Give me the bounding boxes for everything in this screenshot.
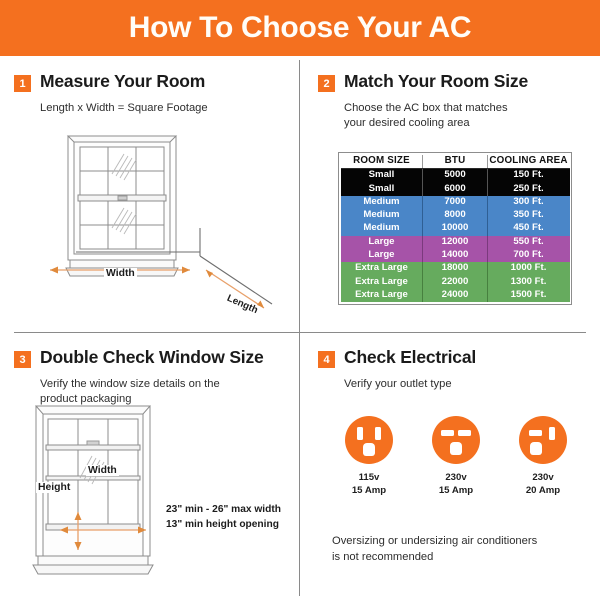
cell-room-size: Small <box>341 182 423 195</box>
outlet-option-2[interactable]: 230v15 Amp <box>419 416 493 497</box>
cell-room-size: Medium <box>341 196 423 209</box>
sizing-recommendation-note: Oversizing or undersizing air conditione… <box>332 534 582 566</box>
cell-room-size: Medium <box>341 222 423 235</box>
cell-btu: 8000 <box>423 209 487 222</box>
table-body: Small5000150 Ft.Small6000250 Ft.Medium70… <box>341 169 570 303</box>
step-3-number: 3 <box>14 351 31 368</box>
cell-cooling-area: 300 Ft. <box>487 196 569 209</box>
prong-slot-2 <box>458 430 471 436</box>
column-header-room-size: ROOM SIZE <box>341 155 423 169</box>
outlet-option-1[interactable]: 115v15 Amp <box>332 416 406 497</box>
step-4-subtitle: Verify your outlet type <box>344 377 588 392</box>
step-4-number: 4 <box>318 351 335 368</box>
window-dimension-requirements: 23" min - 26" max width13" min height op… <box>166 502 281 532</box>
cell-cooling-area: 1300 Ft. <box>487 276 569 289</box>
step-3-panel: 3 Double Check Window Size Verify the wi… <box>14 348 294 593</box>
page-header: How To Choose Your AC <box>0 0 600 56</box>
cell-cooling-area: 150 Ft. <box>487 169 569 183</box>
outlet-label: 230v15 Amp <box>419 471 493 497</box>
outlet-option-3[interactable]: 230v20 Amp <box>506 416 580 497</box>
cell-btu: 24000 <box>423 289 487 302</box>
infographic-page: How To Choose Your AC 1 Measure Your Roo… <box>0 0 600 600</box>
prong-slot-1 <box>441 430 454 436</box>
cell-room-size: Medium <box>341 209 423 222</box>
table-row: Medium8000350 Ft. <box>341 209 570 222</box>
cell-btu: 22000 <box>423 276 487 289</box>
step-4-panel: 4 Check Electrical Verify your outlet ty… <box>318 348 588 593</box>
ground-slot <box>530 442 542 455</box>
step-3-title: Double Check Window Size <box>40 348 264 366</box>
outlet-label: 230v20 Amp <box>506 471 580 497</box>
step-1-panel: 1 Measure Your Room Length x Width = Squ… <box>14 72 294 327</box>
step-2-heading: 2 Match Your Room Size <box>318 72 588 92</box>
cell-room-size: Small <box>341 169 423 183</box>
table-row: Small5000150 Ft. <box>341 169 570 183</box>
window-height-label: Height <box>36 482 72 493</box>
step-1-heading: 1 Measure Your Room <box>14 72 294 92</box>
outlet-label: 115v15 Amp <box>332 471 406 497</box>
cell-cooling-area: 1500 Ft. <box>487 289 569 302</box>
step-2-panel: 2 Match Your Room Size Choose the AC box… <box>318 72 588 327</box>
cell-cooling-area: 550 Ft. <box>487 236 569 249</box>
prong-slot-1 <box>529 430 542 436</box>
cell-cooling-area: 450 Ft. <box>487 222 569 235</box>
cell-btu: 12000 <box>423 236 487 249</box>
table-row: Extra Large240001500 Ft. <box>341 289 570 302</box>
page-title: How To Choose Your AC <box>129 11 472 45</box>
table-header-row: ROOM SIZE BTU COOLING AREA <box>341 155 570 169</box>
table-row: Small6000250 Ft. <box>341 182 570 195</box>
prong-slot-2 <box>375 427 381 440</box>
cell-btu: 5000 <box>423 169 487 183</box>
cell-room-size: Large <box>341 249 423 262</box>
prong-slot-2 <box>549 427 555 440</box>
ac-sizing-table-wrapper: ROOM SIZE BTU COOLING AREA Small5000150 … <box>338 152 572 305</box>
ground-slot <box>450 442 462 455</box>
step-4-title: Check Electrical <box>344 348 476 366</box>
outlet-amperage: 15 Amp <box>352 485 386 496</box>
cell-cooling-area: 250 Ft. <box>487 182 569 195</box>
table-row: Large12000550 Ft. <box>341 236 570 249</box>
cell-btu: 14000 <box>423 249 487 262</box>
outlet-230v-20amp-icon <box>519 416 567 464</box>
step-1-number: 1 <box>14 75 31 92</box>
cell-btu: 18000 <box>423 262 487 275</box>
table-row: Extra Large180001000 Ft. <box>341 262 570 275</box>
cell-room-size: Large <box>341 236 423 249</box>
horizontal-divider <box>14 332 586 333</box>
cell-cooling-area: 700 Ft. <box>487 249 569 262</box>
cell-room-size: Extra Large <box>341 262 423 275</box>
outlet-type-group: 115v15 Amp230v15 Amp230v20 Amp <box>332 416 580 497</box>
ac-sizing-table: ROOM SIZE BTU COOLING AREA Small5000150 … <box>341 155 570 303</box>
cell-btu: 6000 <box>423 182 487 195</box>
outlet-amperage: 20 Amp <box>526 485 560 496</box>
step-1-title: Measure Your Room <box>40 72 205 90</box>
outlet-voltage: 230v <box>445 472 466 483</box>
step-1-subtitle: Length x Width = Square Footage <box>40 101 294 116</box>
outlet-115v-15amp-icon <box>345 416 393 464</box>
room-width-label: Width <box>104 268 137 279</box>
table-row: Extra Large220001300 Ft. <box>341 276 570 289</box>
outlet-amperage: 15 Amp <box>439 485 473 496</box>
outlet-230v-15amp-icon <box>432 416 480 464</box>
cell-cooling-area: 350 Ft. <box>487 209 569 222</box>
step-2-subtitle: Choose the AC box that matchesyour desir… <box>344 101 588 132</box>
step-2-title: Match Your Room Size <box>344 72 528 90</box>
table-row: Medium7000300 Ft. <box>341 196 570 209</box>
prong-slot-1 <box>357 427 363 440</box>
window-width-label: Width <box>86 465 119 476</box>
cell-cooling-area: 1000 Ft. <box>487 262 569 275</box>
cell-btu: 7000 <box>423 196 487 209</box>
room-dimension-diagram <box>14 130 299 330</box>
step-3-heading: 3 Double Check Window Size <box>14 348 294 368</box>
outlet-voltage: 115v <box>359 472 380 483</box>
vertical-divider <box>299 60 300 596</box>
step-4-heading: 4 Check Electrical <box>318 348 588 368</box>
cell-room-size: Extra Large <box>341 276 423 289</box>
column-header-btu: BTU <box>423 155 487 169</box>
table-row: Large14000700 Ft. <box>341 249 570 262</box>
table-row: Medium10000450 Ft. <box>341 222 570 235</box>
cell-room-size: Extra Large <box>341 289 423 302</box>
column-header-cooling-area: COOLING AREA <box>487 155 569 169</box>
step-2-number: 2 <box>318 75 335 92</box>
cell-btu: 10000 <box>423 222 487 235</box>
ground-slot <box>363 443 375 456</box>
outlet-voltage: 230v <box>532 472 553 483</box>
